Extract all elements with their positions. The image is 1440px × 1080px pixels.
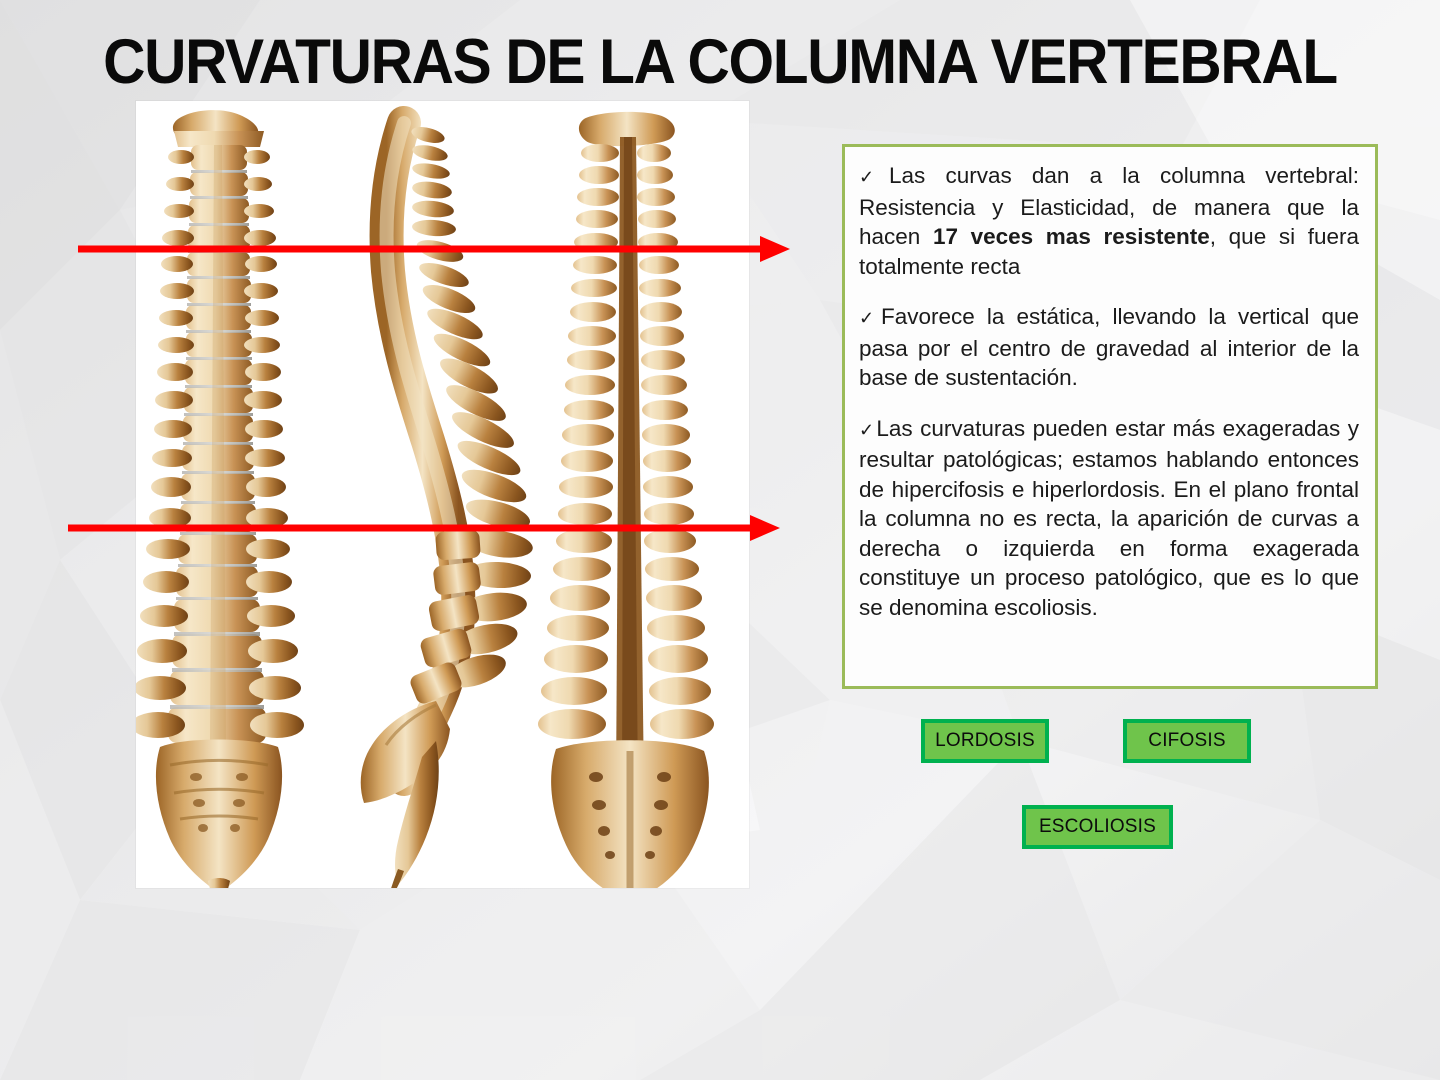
lordosis-button[interactable]: LORDOSIS [921,719,1049,763]
three-spine-views-illustration [136,101,749,888]
slide-canvas: CURVATURAS DE LA COLUMNA VERTEBRAL [0,0,1440,1080]
checkmark-bullet-icon: ✓ [859,308,880,328]
paragraph-text-before: Las curvaturas pueden estar más exagerad… [859,416,1359,620]
cifosis-button[interactable]: CIFOSIS [1123,719,1251,763]
escoliosis-button[interactable]: ESCOLIOSIS [1022,805,1173,849]
info-paragraph-patologicas: ✓Las curvaturas pueden estar más exagera… [859,414,1359,623]
info-paragraph-resistencia: ✓Las curvas dan a la columna vertebral: … [859,161,1359,281]
info-text-box: ✓Las curvas dan a la columna vertebral: … [842,144,1378,689]
checkmark-bullet-icon: ✓ [859,420,875,440]
spine-image-panel [136,101,749,888]
paragraph-text-before: Favorece la estática, llevando la vertic… [859,304,1359,390]
page-title: CURVATURAS DE LA COLUMNA VERTEBRAL [50,27,1389,97]
info-paragraph-estatica: ✓Favorece la estática, llevando la verti… [859,302,1359,393]
checkmark-bullet-icon: ✓ [859,167,888,187]
paragraph-text-bold: 17 veces mas resistente [933,224,1210,249]
